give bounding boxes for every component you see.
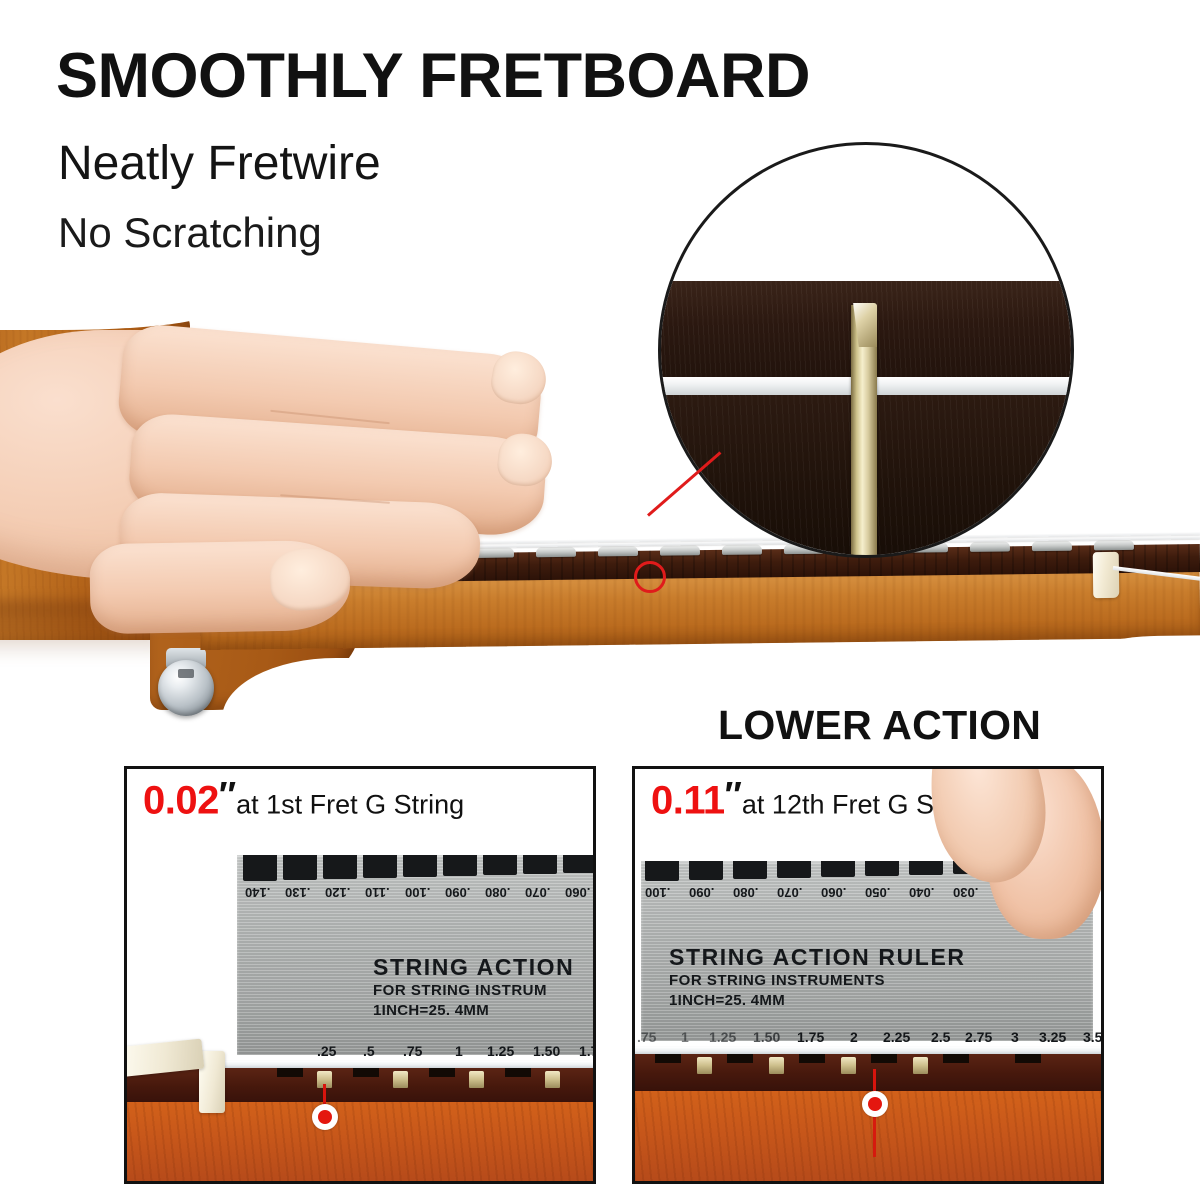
inch-tick: .090 [445,885,470,900]
measurement-context: at 1st Fret G String [236,789,464,819]
fret-end [1094,540,1134,550]
measurement-value: 0.02 [143,778,219,822]
ruler-tooth [689,861,723,880]
callout-target-ring [634,561,666,593]
ruler-brand-line-3: 1INCH=25. 4MM [373,1003,489,1020]
ruler-brand-line-1: STRING ACTION [373,955,574,981]
mm-tick: 1.50 [753,1029,780,1045]
fret-slot [429,1068,455,1077]
inch-tick: .100 [405,885,430,900]
mm-tick: 1.75 [579,1043,596,1059]
fret-end [393,1071,408,1088]
mm-tick: .25 [317,1043,336,1059]
ruler-tooth [909,861,943,875]
string-action-ruler: .140 .130 .120 .110 .100 .090 .080 .070 … [237,855,596,1055]
inch-tick: .080 [485,885,510,900]
ruler-brand-line-1: STRING ACTION RULER [669,945,966,971]
fret-slot [799,1054,825,1063]
mm-tick: 2.5 [931,1029,950,1045]
measurement-panel-first-fret: 0.02″at 1st Fret G String .140 .130 .120… [124,766,596,1184]
ruler-tooth [733,861,767,879]
inch-tick: .140 [245,885,270,900]
inch-tick: .110 [365,885,390,900]
mm-tick: 1 [455,1043,463,1059]
fret-slot [505,1068,531,1077]
ruler-tooth [821,861,855,877]
panel-guitar-body [127,1102,596,1184]
strap-button [158,660,214,716]
ruler-tooth [563,855,596,873]
ruler-tooth [777,861,811,878]
fret-slot [727,1054,753,1063]
inch-mark: ″ [725,774,742,815]
inch-tick: .090 [689,885,714,900]
mm-tick: 3 [1011,1029,1019,1045]
inch-tick: .050 [865,885,890,900]
mm-tick: .75 [403,1043,422,1059]
ruler-brand-line-2: FOR STRING INSTRUM [373,983,547,1000]
subtitle-secondary: No Scratching [58,212,322,254]
mm-tick: .5 [363,1043,375,1059]
mm-tick: .75 [637,1029,656,1045]
subtitle-primary: Neatly Fretwire [58,140,381,188]
inch-tick: .070 [525,885,550,900]
mm-tick: 2.75 [965,1029,992,1045]
ruler-tooth [523,855,557,874]
fret-slot [1015,1054,1041,1063]
ruler-tooth [443,855,477,876]
fret-slot [655,1054,681,1063]
marker-stem [873,1069,876,1091]
mm-tick: 1.75 [797,1029,824,1045]
measurement-value: 0.11 [651,778,725,822]
fret-end [545,1071,560,1088]
ruler-tooth [243,855,277,881]
fret-slot [943,1054,969,1063]
hand [0,330,610,630]
fret-slot [871,1054,897,1063]
ruler-brand-line-3: 1INCH=25. 4MM [669,993,785,1010]
ruler-tooth [323,855,357,879]
fret-end [913,1057,928,1074]
mm-tick: 2.25 [883,1029,910,1045]
measured-string [635,1047,1104,1054]
inch-mark: ″ [219,774,236,815]
inch-tick: .060 [565,885,590,900]
fret-end [841,1057,856,1074]
mm-tick: 3.5 [1083,1029,1102,1045]
mm-tick: 3.25 [1039,1029,1066,1045]
product-feature-image: SMOOTHLY FRETBOARD Neatly Fretwire No Sc… [0,0,1200,1200]
fret-end [697,1057,712,1074]
inch-tick: .080 [733,885,758,900]
mm-tick: 2 [850,1029,858,1045]
inch-tick-row: .140 .130 .120 .110 .100 .090 .080 .070 … [237,883,596,913]
marker-stem [873,1117,876,1157]
measurement-marker [862,1091,888,1117]
fretwire-magnifier [658,142,1074,558]
inch-tick: .070 [777,885,802,900]
measurement-marker [312,1104,338,1130]
inch-tick: .060 [821,885,846,900]
fret-slot [353,1068,379,1077]
fingernail [495,431,554,488]
guitar-nut [1093,552,1120,598]
lower-action-label: LOWER ACTION [718,705,1041,746]
neck-taper [1080,635,1200,677]
ruler-tooth [865,861,899,876]
page-title: SMOOTHLY FRETBOARD [56,45,810,108]
mm-tick: 1.50 [533,1043,560,1059]
mm-tick: 1.25 [487,1043,514,1059]
ruler-step-teeth [237,855,596,881]
ruler-tooth [363,855,397,878]
fret-end [769,1057,784,1074]
fret-end [469,1071,484,1088]
inch-tick: .130 [285,885,310,900]
measurement-panel-twelfth-fret: 0.11″at 12th Fret G String .100 .090 .08… [632,766,1104,1184]
inch-tick: .040 [909,885,934,900]
inch-tick: .120 [325,885,350,900]
inch-tick: .100 [645,885,670,900]
mm-tick: 1 [681,1029,689,1045]
panel-caption: 0.02″at 1st Fret G String [143,777,464,820]
ruler-tooth [403,855,437,877]
ruler-tooth [645,861,679,881]
ruler-brand-line-2: FOR STRING INSTRUMENTS [669,973,885,990]
inch-tick: .030 [953,885,978,900]
mm-tick: 1.25 [709,1029,736,1045]
ruler-tooth [283,855,317,880]
ruler-tooth [483,855,517,875]
fret-slot [277,1068,303,1077]
